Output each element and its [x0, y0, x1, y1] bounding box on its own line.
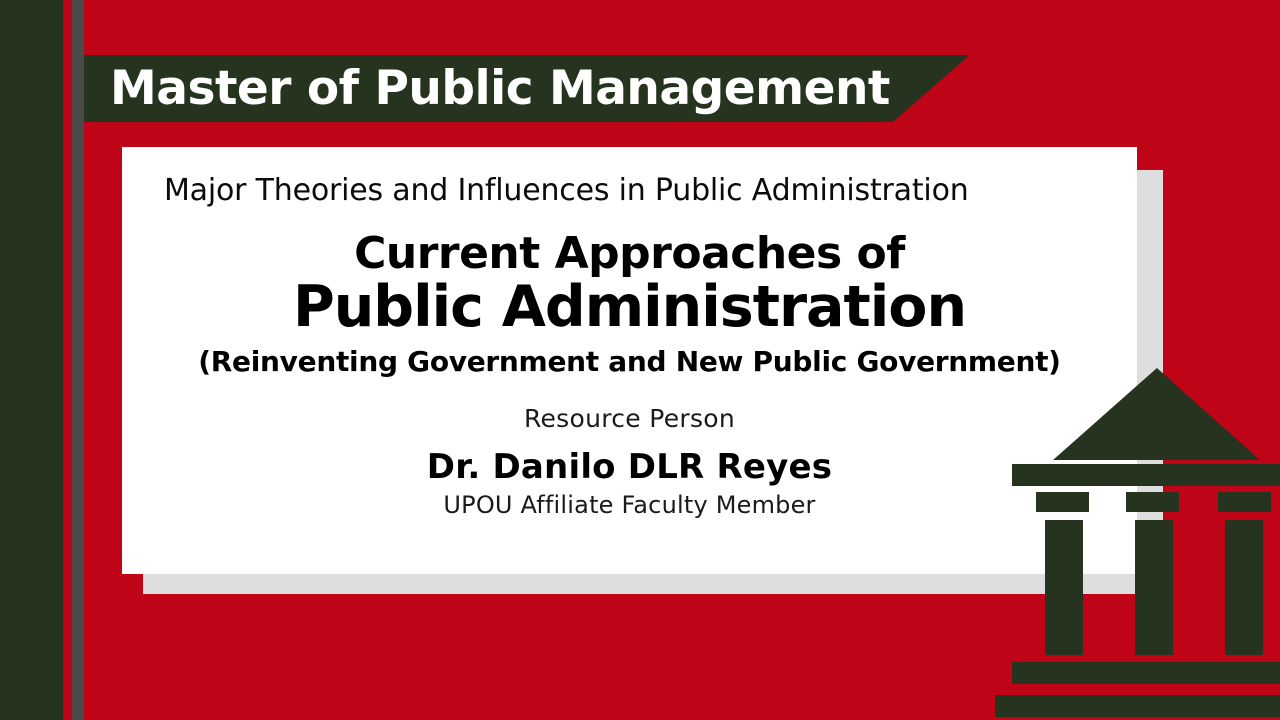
speaker-affiliation: UPOU Affiliate Faculty Member: [146, 491, 1113, 519]
building-entablature-bar: [1012, 464, 1280, 486]
slide-title-line-1: Current Approaches of: [146, 230, 1113, 278]
content-card: Major Theories and Influences in Public …: [122, 147, 1137, 574]
building-capital-3: [1218, 492, 1271, 512]
building-capital-1: [1036, 492, 1089, 512]
slide-title-parenthetical: (Reinventing Government and New Public G…: [146, 345, 1113, 378]
building-pediment-icon: [1053, 368, 1260, 460]
left-edge-red-stripe: [63, 0, 72, 720]
speaker-block: Resource Person Dr. Danilo DLR Reyes UPO…: [146, 404, 1113, 519]
left-edge-green-band: [0, 0, 63, 720]
building-column-1: [1045, 520, 1083, 655]
slide-title-block: Current Approaches of Public Administrat…: [146, 230, 1113, 378]
building-column-3: [1225, 520, 1263, 655]
left-edge-gray-stripe: [72, 0, 84, 720]
building-capital-2: [1126, 492, 1179, 512]
program-title: Master of Public Management: [110, 55, 890, 122]
speaker-role-label: Resource Person: [146, 404, 1113, 433]
course-subject-line: Major Theories and Influences in Public …: [164, 173, 1113, 208]
building-column-2: [1135, 520, 1173, 655]
speaker-name: Dr. Danilo DLR Reyes: [146, 447, 1113, 487]
building-base-bar-upper: [1012, 662, 1280, 684]
slide-title-line-2: Public Administration: [146, 278, 1113, 338]
presentation-slide: Master of Public Management Major Theori…: [0, 0, 1280, 720]
building-base-bar-lower: [995, 695, 1280, 717]
classical-government-building-icon: [1000, 350, 1280, 720]
